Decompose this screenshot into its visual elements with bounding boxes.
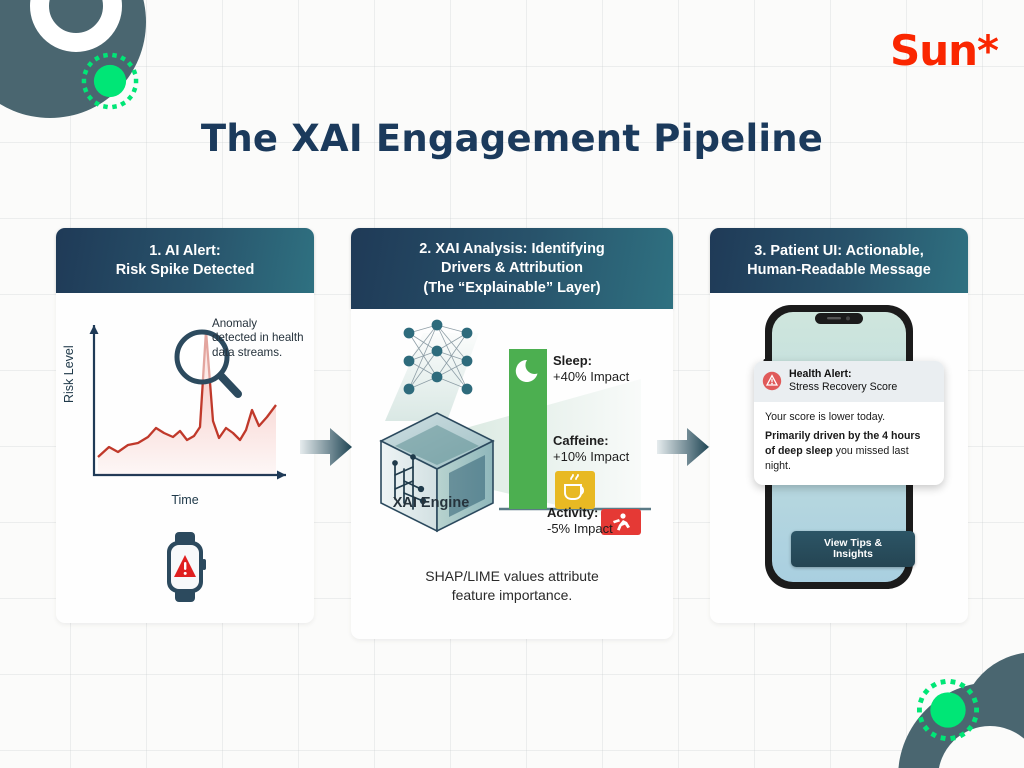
factor-caffeine-label: Caffeine: — [553, 433, 609, 448]
smartwatch-wrap — [56, 531, 314, 608]
stage-1-panel: 1. AI Alert: Risk Spike Detected — [56, 228, 314, 623]
stage-2-caption-line2: feature importance. — [351, 586, 673, 606]
stage-2-header: 2. XAI Analysis: Identifying Drivers & A… — [351, 228, 673, 309]
stage-2-caption-line1: SHAP/LIME values attribute — [351, 567, 673, 587]
factor-sleep-impact: +40% Impact — [553, 369, 629, 384]
chart-x-axis-label: Time — [56, 493, 314, 507]
factor-activity-label: Activity: — [547, 505, 598, 520]
alert-triangle-icon — [762, 371, 782, 391]
stage-3-panel: 3. Patient UI: Actionable, Human-Readabl… — [710, 228, 968, 623]
stage-1-header-line2: Risk Spike Detected — [66, 261, 304, 280]
page-title: The XAI Engagement Pipeline — [0, 117, 1024, 160]
stage-1-header-line1: 1. AI Alert: — [66, 242, 304, 261]
anomaly-annotation: Anomaly detected in health data streams. — [212, 317, 304, 361]
factor-activity-text: Activity: -5% Impact — [547, 505, 613, 538]
stage-3-header: 3. Patient UI: Actionable, Human-Readabl… — [710, 228, 968, 293]
notification-title: Health Alert: — [789, 368, 897, 382]
starburst-icon-top-left — [79, 50, 141, 112]
factor-caffeine-impact: +10% Impact — [553, 449, 629, 464]
factor-caffeine-text: Caffeine: +10% Impact — [553, 433, 629, 466]
stage-3-header-line2: Human-Readable Message — [720, 261, 958, 280]
phone-mockup: Health Alert: Stress Recovery Score Your… — [763, 303, 915, 596]
stage-2-header-line3: (The “Explainable” Layer) — [361, 279, 663, 298]
notification-body: Your score is lower today. Primarily dri… — [754, 402, 944, 485]
stage-2-body: XAI Engine Sleep: +40% Impact Caffeine: … — [351, 309, 673, 639]
factor-sleep-label: Sleep: — [553, 353, 592, 368]
notification-line1: Your score is lower today. — [765, 410, 933, 425]
bar-caffeine — [555, 471, 595, 509]
arrow-stage2-to-stage3-icon — [657, 424, 709, 470]
xai-engine-label: XAI Engine — [365, 495, 497, 511]
stage-1-header: 1. AI Alert: Risk Spike Detected — [56, 228, 314, 293]
stage-2-caption: SHAP/LIME values attribute feature impor… — [351, 567, 673, 606]
chart-y-axis-label: Risk Level — [62, 345, 76, 403]
stage-2-header-line2: Drivers & Attribution — [361, 259, 663, 278]
stage-2-panel: 2. XAI Analysis: Identifying Drivers & A… — [351, 228, 673, 639]
stage-3-header-line1: 3. Patient UI: Actionable, — [720, 242, 958, 261]
smartwatch-alert-icon — [159, 531, 211, 603]
notification-title-block: Health Alert: Stress Recovery Score — [789, 368, 897, 396]
pipeline-container: 1. AI Alert: Risk Spike Detected — [0, 228, 1024, 648]
arrow-stage1-to-stage2-icon — [300, 424, 352, 470]
stage-2-header-line1: 2. XAI Analysis: Identifying — [361, 240, 663, 259]
notification-subtitle: Stress Recovery Score — [789, 381, 897, 393]
health-alert-notification[interactable]: Health Alert: Stress Recovery Score Your… — [754, 361, 944, 486]
stage-3-body: Health Alert: Stress Recovery Score Your… — [710, 293, 968, 623]
stage-1-body: Risk Level Time Anomaly detected in heal… — [56, 293, 314, 623]
factor-activity-impact: -5% Impact — [547, 521, 613, 536]
view-tips-button[interactable]: View Tips & Insights — [791, 531, 915, 567]
notification-header: Health Alert: Stress Recovery Score — [754, 361, 944, 403]
starburst-icon-bottom-right — [914, 676, 982, 744]
sun-logo: Sun* — [890, 26, 998, 75]
factor-sleep-text: Sleep: +40% Impact — [553, 353, 629, 386]
